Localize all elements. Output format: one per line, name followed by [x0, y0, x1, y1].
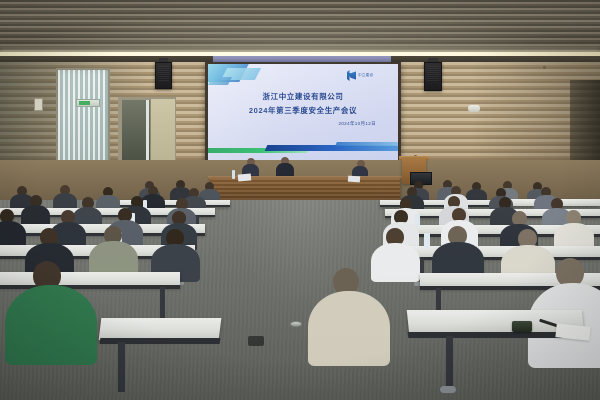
presenter-paper [238, 173, 252, 181]
conference-room-photo: 中立建设 浙江中立建设有限公司 2024年第三季度安全生产会议 2024年10月… [0, 0, 600, 400]
desk [99, 318, 222, 340]
wall-sensor-icon [468, 105, 480, 112]
water-bottle [415, 214, 420, 227]
presenter-paper [348, 176, 360, 183]
desk-caster [440, 386, 456, 393]
wall-speaker-left-icon [155, 62, 172, 89]
desk-leg [446, 336, 453, 391]
desk-leg [160, 287, 165, 321]
desk-leg [118, 342, 125, 392]
wall-switch-plate [34, 98, 43, 111]
projection-screen: 中立建设 浙江中立建设有限公司 2024年第三季度安全生产会议 2024年10月… [208, 64, 398, 160]
wall-fixture-dot-2 [543, 66, 546, 69]
exit-sign-icon [76, 99, 100, 107]
water-bottle [232, 170, 235, 179]
ceiling [0, 0, 600, 58]
screen-glare [208, 64, 398, 160]
floor-outlet-icon [290, 321, 302, 327]
phone-on-desk [512, 321, 532, 332]
water-bottle [424, 233, 430, 249]
wall-speaker-right-icon [424, 62, 442, 91]
bag-under-desk [248, 336, 264, 346]
desk-edge [0, 285, 180, 289]
desk-edge [380, 205, 500, 207]
